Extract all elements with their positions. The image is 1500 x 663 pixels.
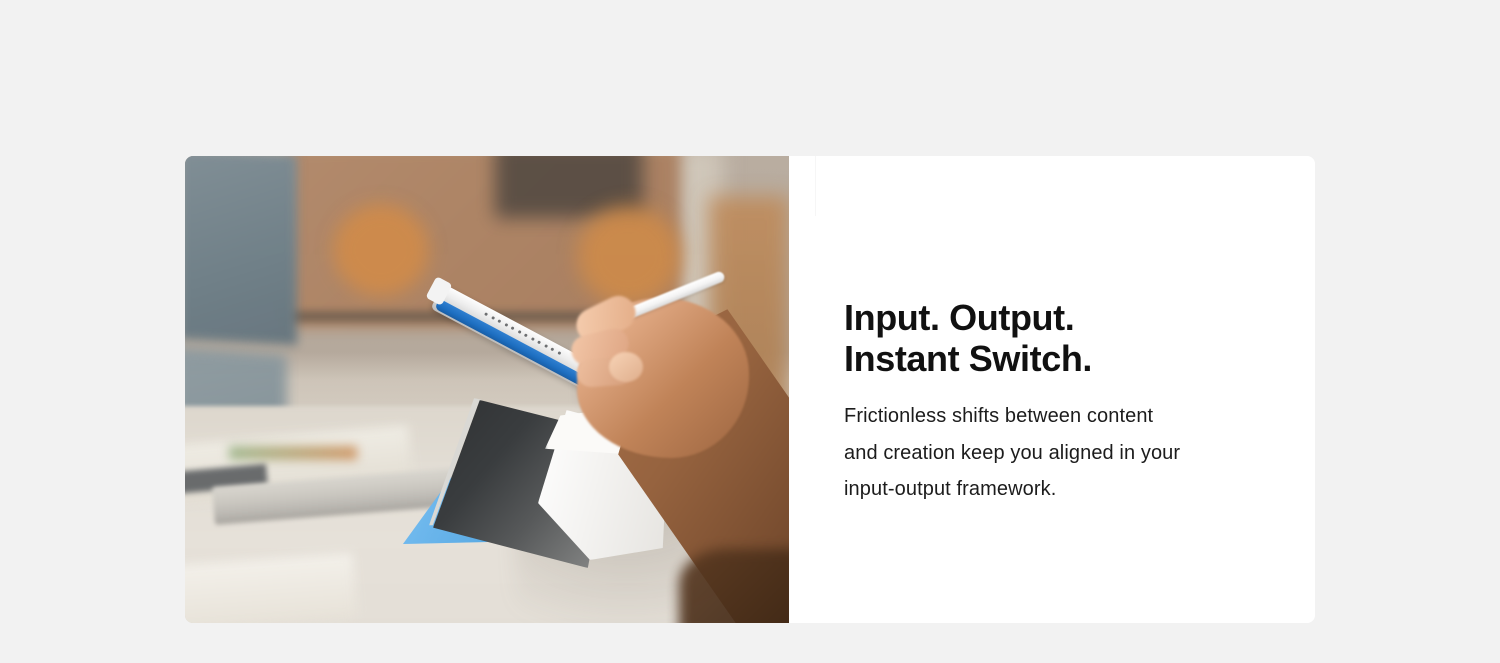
- card-media: [185, 156, 789, 623]
- thumb: [609, 352, 643, 382]
- forearm-shadow-corner: [679, 549, 789, 623]
- page-root: Input. Output. Instant Switch. Frictionl…: [0, 0, 1500, 663]
- card-content: Input. Output. Instant Switch. Frictionl…: [789, 156, 1315, 623]
- headline-line-1: Input. Output.: [844, 297, 1264, 338]
- headline-line-2: Instant Switch.: [844, 338, 1264, 379]
- page-title: Input. Output. Instant Switch.: [844, 297, 1264, 379]
- tablet-with-stylus-photo: [185, 156, 789, 623]
- panel-divider: [815, 156, 816, 216]
- body-copy: Frictionless shifts between content and …: [844, 398, 1189, 508]
- feature-card: Input. Output. Instant Switch. Frictionl…: [185, 156, 1315, 623]
- tablet-assembly: [185, 156, 789, 623]
